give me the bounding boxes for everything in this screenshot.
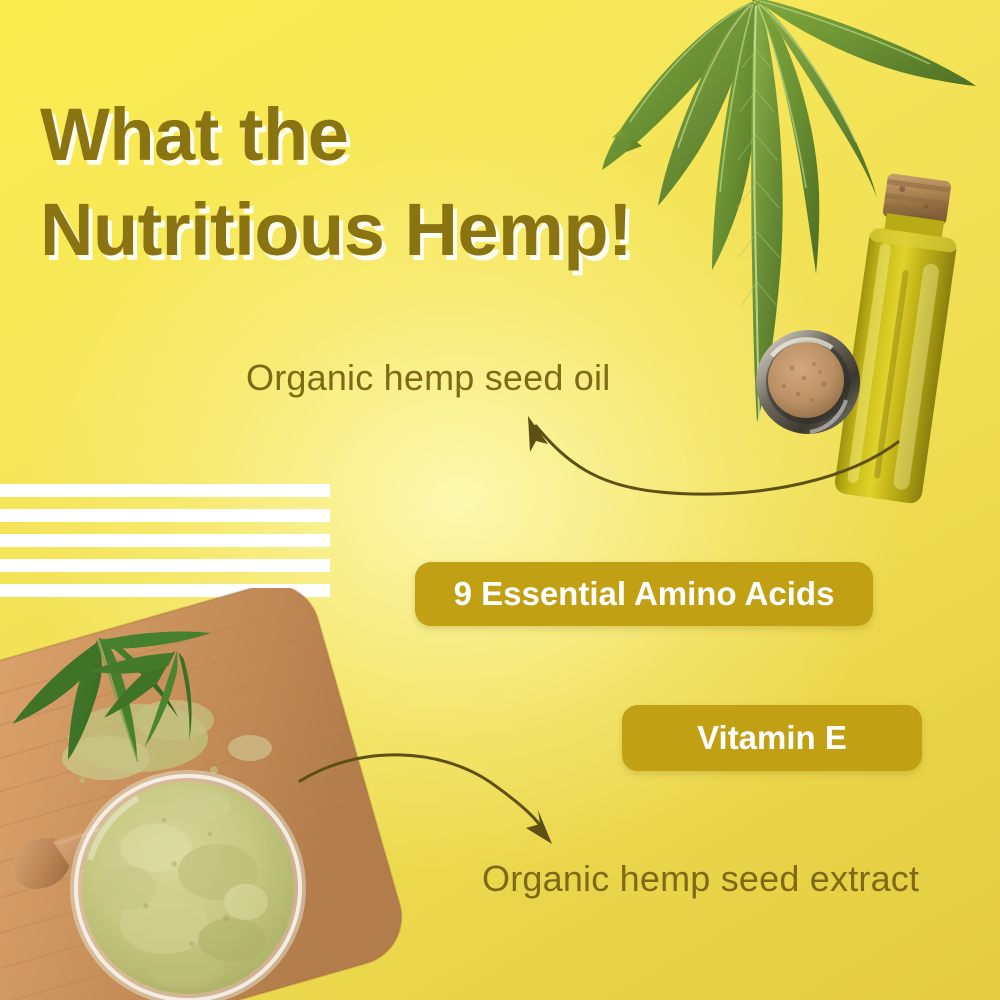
badge-vitamin-e[interactable]: Vitamin E — [622, 705, 922, 771]
stripe — [0, 509, 330, 522]
stripe — [0, 534, 330, 547]
badge-vitamin-e-label: Vitamin E — [697, 719, 847, 757]
powder-bowl — [70, 770, 306, 1000]
page-title-line2: Nutritious Hemp! — [40, 183, 760, 278]
badge-amino-acids[interactable]: 9 Essential Amino Acids — [415, 562, 873, 626]
decorative-stripes — [0, 484, 330, 598]
stripe — [0, 484, 330, 497]
stripe — [0, 559, 330, 572]
poster-canvas: What the Nutritious Hemp! Organic hemp s… — [0, 0, 1000, 1000]
page-title: What the Nutritious Hemp! — [40, 88, 760, 277]
label-organic-hemp-seed-extract: Organic hemp seed extract — [482, 858, 919, 900]
oil-bottle-icon — [833, 172, 965, 505]
page-title-line1: What the — [40, 88, 760, 183]
hemp-powder-bowl-photo — [0, 588, 448, 1000]
cork-jar-icon — [756, 330, 860, 434]
label-organic-hemp-seed-oil: Organic hemp seed oil — [246, 357, 610, 399]
badge-amino-acids-label: 9 Essential Amino Acids — [454, 575, 835, 613]
